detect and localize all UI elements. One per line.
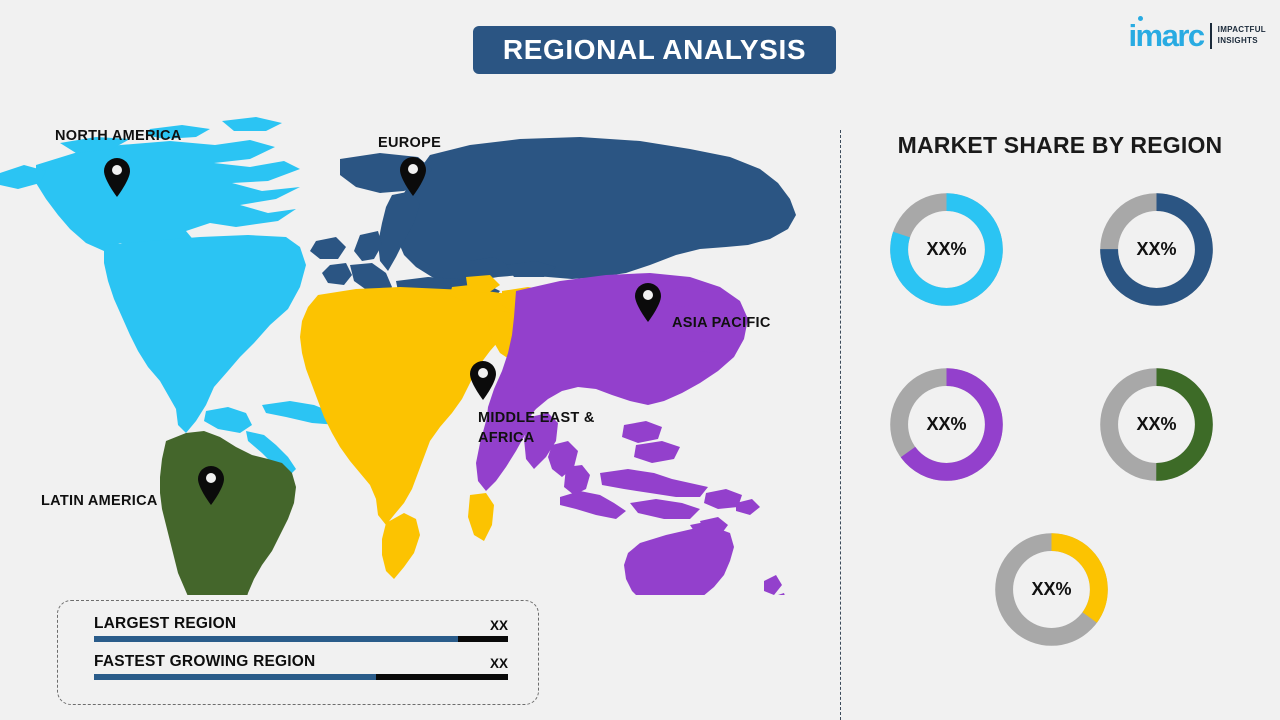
donut-label-europe: XX% [1094, 187, 1219, 312]
map-label-middle-east-africa: MIDDLE EAST & AFRICA [478, 409, 595, 448]
legend-bar-fill-largest-region [94, 636, 458, 642]
donut-chart-asia-pacific[interactable]: XX% [884, 362, 1009, 487]
map-region-north-america[interactable] [0, 117, 350, 477]
panel-divider [840, 130, 841, 720]
donut-chart-north-america[interactable]: XX% [884, 187, 1009, 312]
donut-label-north-america: XX% [884, 187, 1009, 312]
legend-row-fastest-growing-region: FASTEST GROWING REGION XX [94, 653, 508, 680]
legend-bar-fill-fastest-growing-region [94, 674, 376, 680]
legend-row-largest-region: LARGEST REGION XX [94, 615, 508, 642]
donut-chart-middle-east-africa[interactable]: XX% [989, 527, 1114, 652]
logo-divider [1210, 23, 1212, 49]
donut-label-latin-america: XX% [1094, 362, 1219, 487]
legend-value-fastest-growing-region: XX [490, 656, 508, 671]
legend-box: LARGEST REGION XX FASTEST GROWING REGION… [57, 600, 539, 705]
logo-wordmark: imarc [1128, 22, 1203, 50]
world-map-panel: NORTH AMERICA EUROPE ASIA PACIFIC MIDDLE… [0, 95, 830, 595]
logo-tagline-line1: IMPACTFUL [1218, 25, 1266, 36]
map-pin-middle-east-africa[interactable] [470, 361, 496, 400]
donut-label-asia-pacific: XX% [884, 362, 1009, 487]
donut-chart-europe[interactable]: XX% [1094, 187, 1219, 312]
market-share-title: MARKET SHARE BY REGION [860, 132, 1260, 159]
imarc-logo: imarc IMPACTFUL INSIGHTS [1128, 22, 1266, 50]
legend-label-fastest-growing-region: FASTEST GROWING REGION [94, 653, 315, 671]
donut-label-middle-east-africa: XX% [989, 527, 1114, 652]
donut-chart-latin-america[interactable]: XX% [1094, 362, 1219, 487]
page-title: REGIONAL ANALYSIS [503, 34, 806, 66]
logo-tagline: IMPACTFUL INSIGHTS [1218, 25, 1266, 47]
logo-wordmark-text: imarc [1128, 18, 1203, 53]
map-label-asia-pacific: ASIA PACIFIC [672, 314, 771, 334]
legend-bar-fastest-growing-region [94, 674, 508, 680]
page-title-banner: REGIONAL ANALYSIS [473, 26, 836, 74]
legend-value-largest-region: XX [490, 618, 508, 633]
map-label-latin-america: LATIN AMERICA [41, 492, 158, 512]
world-map-graphic [0, 95, 830, 595]
legend-label-largest-region: LARGEST REGION [94, 615, 236, 633]
logo-tagline-line2: INSIGHTS [1218, 36, 1266, 47]
map-label-europe: EUROPE [378, 134, 441, 154]
market-share-donut-grid: XX% XX% XX% XX% XX% [858, 178, 1262, 678]
legend-bar-largest-region [94, 636, 508, 642]
map-label-north-america: NORTH AMERICA [55, 127, 182, 147]
